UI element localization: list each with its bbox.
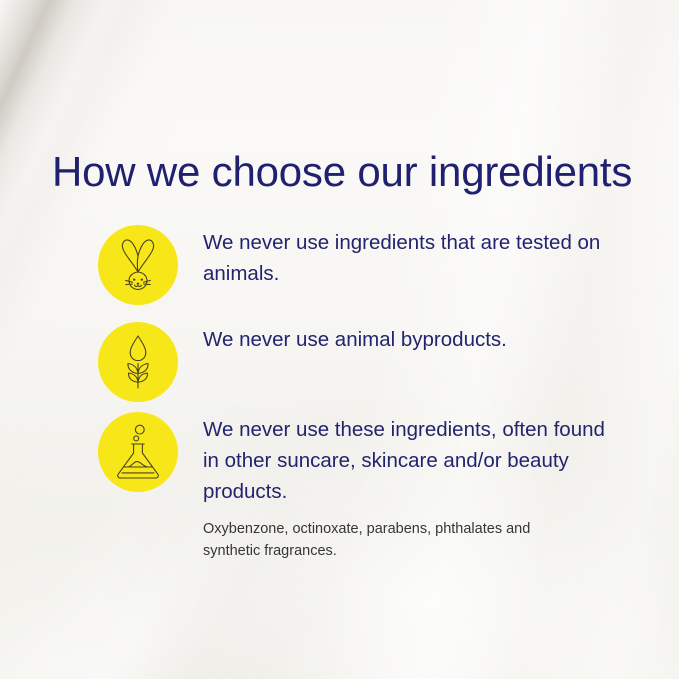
list-item-text-block: We never use animal byproducts. — [178, 322, 618, 355]
page-title: How we choose our ingredients — [52, 148, 632, 196]
list-item: We never use animal byproducts. — [98, 322, 618, 412]
claims-list: We never use ingredients that are tested… — [98, 225, 618, 572]
list-item: We never use these ingredients, often fo… — [98, 412, 618, 572]
list-item: We never use ingredients that are tested… — [98, 225, 618, 322]
list-item-text-block: We never use ingredients that are tested… — [178, 225, 618, 289]
list-item-body: We never use ingredients that are tested… — [203, 227, 618, 289]
chemistry-flask-icon — [113, 423, 163, 481]
icon-badge-cruelty-free — [98, 225, 178, 305]
list-item-body: We never use animal byproducts. — [203, 324, 618, 355]
plant-leaf-droplet-icon — [116, 333, 160, 391]
content-area: How we choose our ingredients — [0, 0, 679, 679]
ingredient-philosophy-infographic: How we choose our ingredients — [0, 0, 679, 679]
icon-badge-no-harsh-chemicals — [98, 412, 178, 492]
list-item-text-block: We never use these ingredients, often fo… — [178, 412, 618, 562]
list-item-footnote: Oxybenzone, octinoxate, parabens, phthal… — [203, 518, 548, 562]
list-item-body: We never use these ingredients, often fo… — [203, 414, 618, 507]
cruelty-free-bunny-icon — [112, 236, 164, 294]
icon-badge-plant-based — [98, 322, 178, 402]
